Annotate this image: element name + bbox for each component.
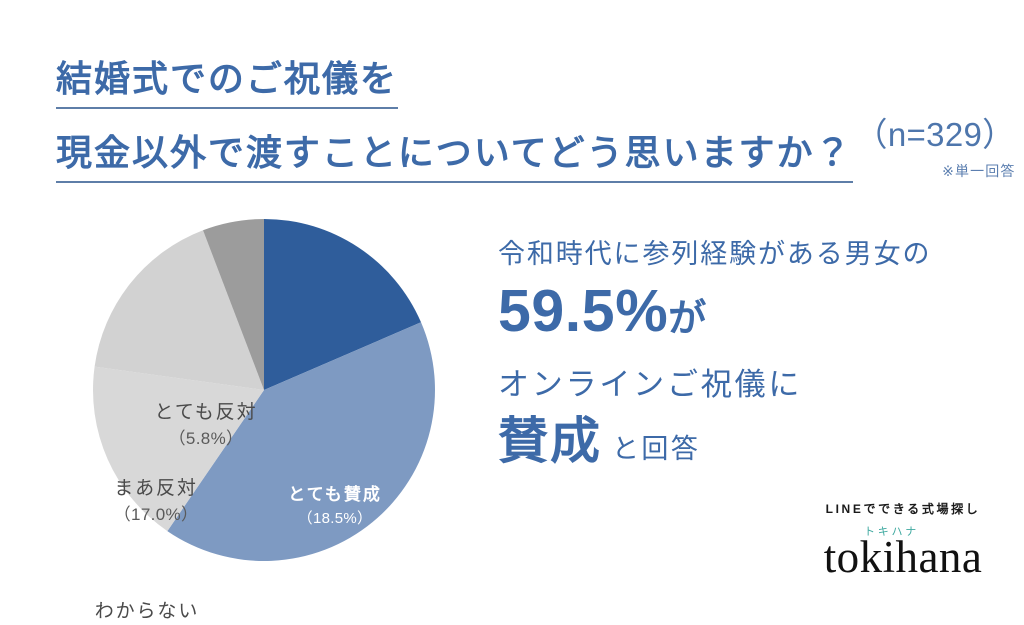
logo-wordmark: tokihana	[808, 535, 998, 580]
callout-percent-value: 59.5%	[498, 278, 668, 344]
callout-answer-emphasis: 賛成	[498, 414, 602, 469]
title-block: 結婚式でのご祝儀を 現金以外で渡すことについてどう思いますか？ （n=329） …	[56, 58, 986, 183]
page-title-line-1: 結婚式でのご祝儀を	[56, 58, 398, 109]
pie-label-name: わからない	[74, 600, 220, 625]
pie-chart-svg	[0, 196, 470, 596]
callout-big-percent: 59.5%が	[498, 278, 998, 344]
callout-mid: オンラインご祝儀に	[498, 366, 998, 403]
callout-block: 令和時代に参列経験がある男女の 59.5%が オンラインご祝儀に 賛成 と回答	[498, 238, 998, 469]
page-title-line-2: 現金以外で渡すことについてどう思いますか？	[56, 132, 853, 183]
callout-percent-suffix: が	[668, 298, 707, 340]
pie-label-wakaranai: わからない （17.6%）	[74, 600, 220, 625]
sample-size: （n=329）	[855, 118, 1016, 153]
logo-tagline: LINEでできる式場探し	[808, 500, 998, 517]
title-line-2-row: 現金以外で渡すことについてどう思いますか？ （n=329） ※単一回答	[56, 118, 986, 183]
sample-note: ※単一回答	[942, 161, 1015, 181]
pie-slice-group	[93, 219, 435, 561]
callout-answer: 賛成 と回答	[498, 414, 998, 469]
title-line-1-row: 結婚式でのご祝儀を	[56, 58, 986, 109]
callout-lead: 令和時代に参列経験がある男女の	[498, 238, 998, 270]
sample-info: （n=329） ※単一回答	[855, 118, 1016, 183]
infographic-page: 結婚式でのご祝儀を 現金以外で渡すことについてどう思いますか？ （n=329） …	[0, 0, 1024, 625]
callout-answer-suffix: と回答	[612, 427, 700, 466]
tokihana-logo: LINEでできる式場探し トキハナ tokihana	[808, 500, 998, 580]
pie-chart: とても賛成 （18.5%） まあ賛成 （41.0%） わからない （17.6%）…	[0, 196, 470, 596]
